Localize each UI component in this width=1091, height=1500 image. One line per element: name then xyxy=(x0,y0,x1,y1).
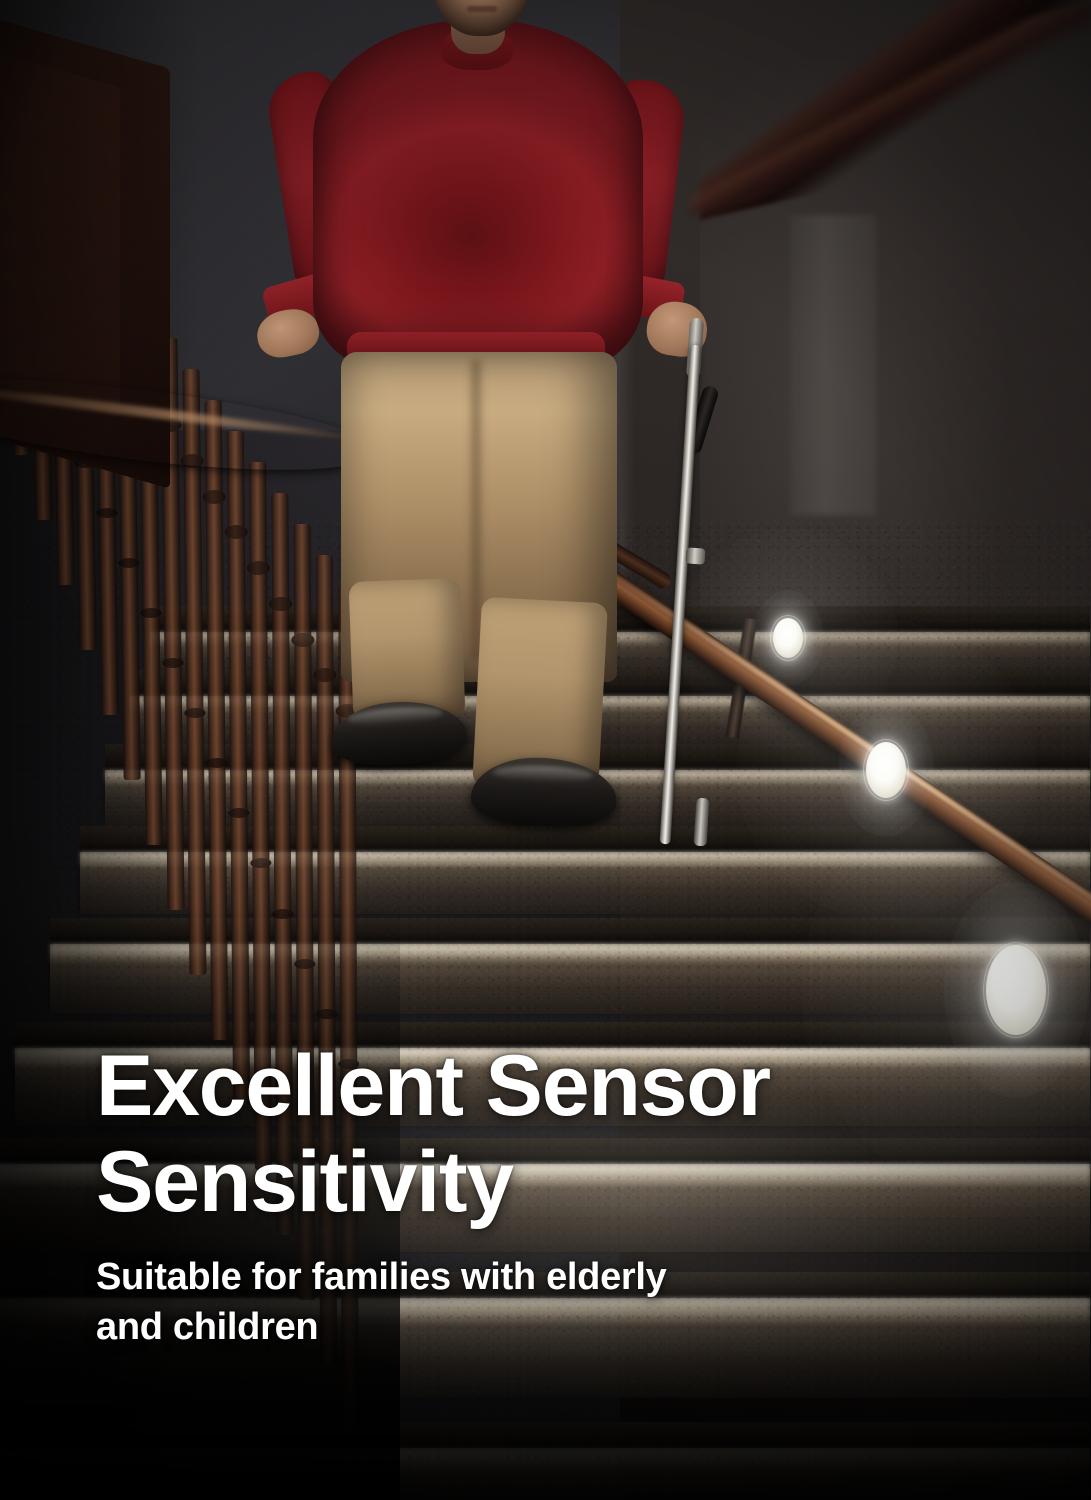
subheadline: Suitable for families with elderly and c… xyxy=(96,1252,976,1352)
marketing-copy-block: Excellent Sensor Sensitivity Suitable fo… xyxy=(96,1038,976,1352)
headline-line-1: Excellent Sensor xyxy=(96,1038,976,1134)
headline: Excellent Sensor Sensitivity xyxy=(96,1038,976,1230)
headline-line-2: Sensitivity xyxy=(96,1134,976,1230)
subheadline-line-2: and children xyxy=(96,1302,976,1352)
subheadline-line-1: Suitable for families with elderly xyxy=(96,1252,976,1302)
lifestyle-photo-scene: Excellent Sensor Sensitivity Suitable fo… xyxy=(0,0,1091,1500)
